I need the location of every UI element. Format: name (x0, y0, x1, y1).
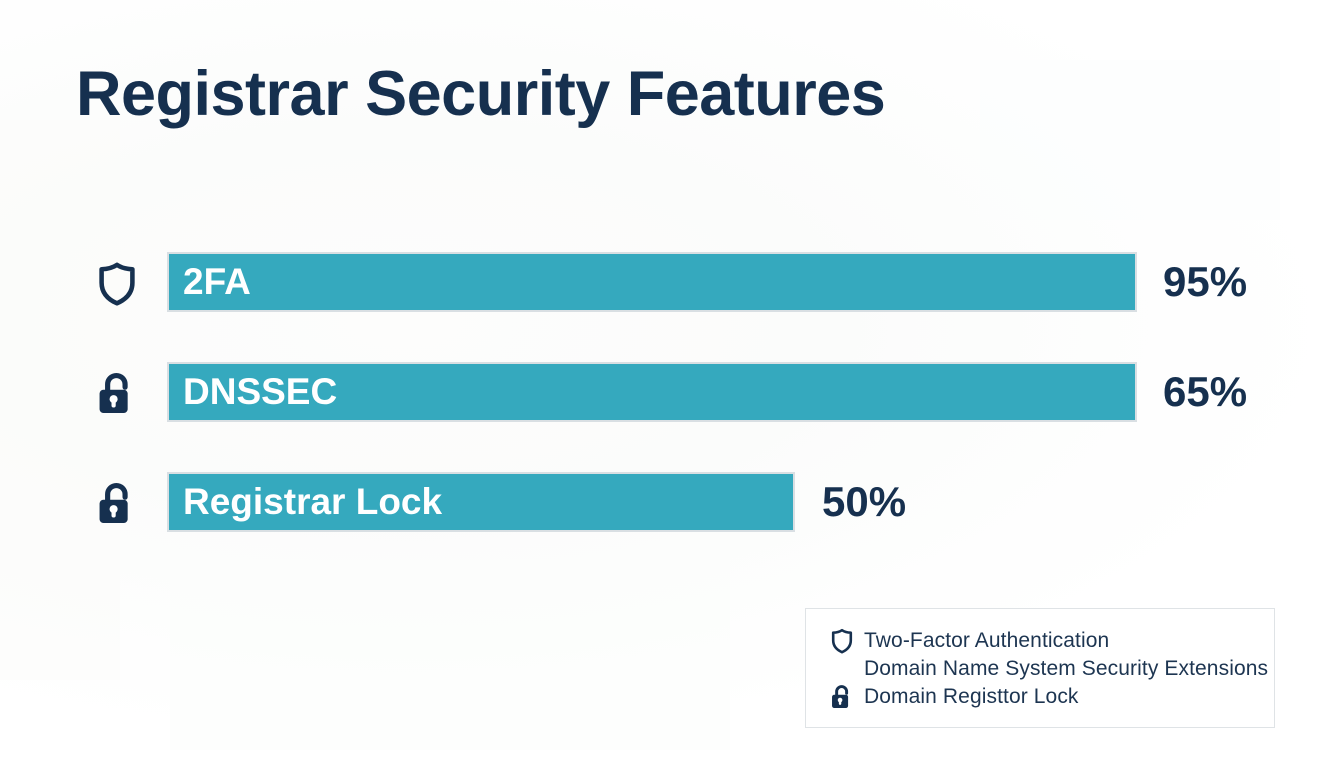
bar-row: DNSSEC65% (0, 362, 1344, 426)
bar-value-label: 65% (1163, 362, 1247, 422)
bar[interactable]: 2FA (167, 252, 1137, 312)
shield-icon-wrap (826, 627, 858, 655)
bar-label: Registrar Lock (183, 481, 442, 523)
bar-label: DNSSEC (183, 371, 337, 413)
legend-item-label: Two-Factor Authentication (864, 629, 1109, 653)
bar-row: Registrar Lock50% (0, 472, 1344, 536)
bar-value-label: 50% (822, 472, 906, 532)
open-lock-icon-wrap (826, 683, 858, 711)
bar[interactable]: DNSSEC (167, 362, 1137, 422)
shield-icon (96, 261, 138, 307)
open-lock-icon (96, 481, 138, 526)
bar[interactable]: Registrar Lock (167, 472, 795, 532)
bar-label: 2FA (183, 261, 251, 303)
legend-box: Two-Factor AuthenticationDomain Name Sys… (805, 608, 1275, 728)
open-lock-icon (96, 371, 138, 416)
shield-icon-wrap (92, 252, 142, 316)
open-lock-icon-wrap (92, 472, 142, 536)
legend-list: Two-Factor AuthenticationDomain Name Sys… (806, 609, 1274, 727)
bar-value-label: 95% (1163, 252, 1247, 312)
legend-item: Two-Factor Authentication (806, 627, 1274, 655)
slide-canvas: Registrar Security Features 2FA95%DNSSEC… (0, 0, 1344, 768)
open-lock-icon-wrap (92, 362, 142, 426)
open-lock-icon (830, 684, 854, 710)
legend-item: Domain Name System Security Extensions (806, 655, 1274, 683)
legend-item-label: Domain Name System Security Extensions (864, 657, 1268, 681)
legend-item: Domain Registtor Lock (806, 683, 1274, 711)
legend-item-label: Domain Registtor Lock (864, 685, 1079, 709)
bar-row: 2FA95% (0, 252, 1344, 316)
shield-icon (830, 628, 854, 654)
